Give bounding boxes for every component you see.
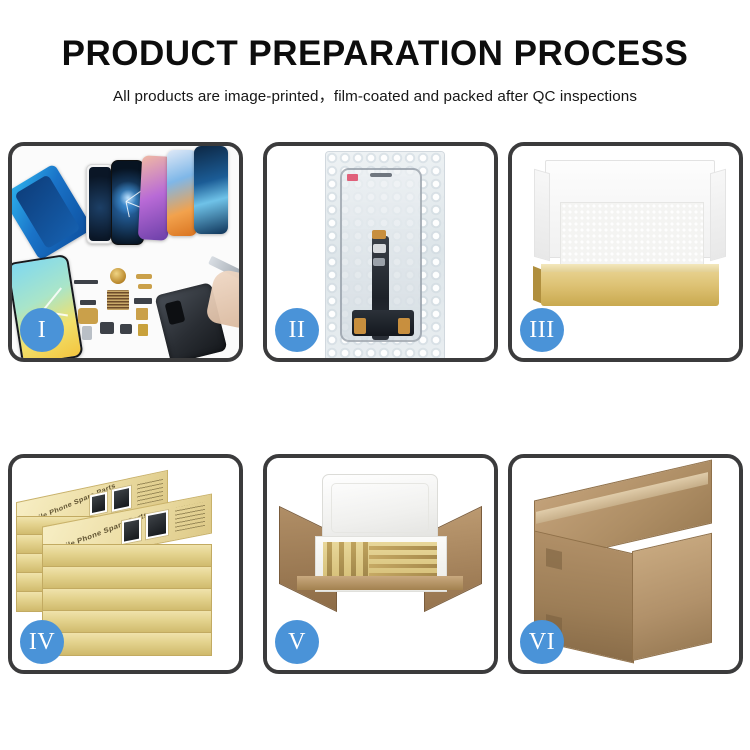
step-badge-4: IV (20, 620, 64, 664)
screen-notch (370, 173, 392, 177)
box-spec-lines-front (175, 502, 205, 532)
process-step-panel-2[interactable]: II (263, 142, 498, 362)
process-step-panel-3[interactable]: III (508, 142, 743, 362)
process-step-panel-6[interactable]: VI (508, 454, 743, 674)
part-gold-contact (138, 324, 148, 336)
phone-screen-orange (167, 150, 197, 236)
part-ic-chip-array (107, 290, 129, 310)
step-4-image: Mobile Phone Spare Parts Mobile Phone Sp… (12, 458, 239, 670)
part-camera-flex (78, 308, 98, 324)
process-step-panel-1[interactable]: I (8, 142, 243, 362)
grey-connector (373, 258, 385, 266)
part-bracket (134, 298, 152, 304)
part-sim-tray (82, 326, 92, 340)
box-layer-front-5 (42, 632, 212, 656)
process-step-grid: I II (8, 142, 745, 674)
box-layer-front-3 (42, 588, 212, 612)
carton-body (300, 584, 460, 658)
carton-seam-upper (546, 548, 562, 570)
box-spec-lines-back (137, 478, 163, 506)
page-header: PRODUCT PREPARATION PROCESS All products… (0, 0, 750, 106)
process-step-panel-4[interactable]: Mobile Phone Spare Parts Mobile Phone Sp… (8, 454, 243, 674)
step-2-image: II (267, 146, 494, 358)
part-speaker-coil (110, 268, 126, 284)
step-badge-1: I (20, 308, 64, 352)
part-speaker-module (120, 324, 132, 334)
step-badge-3: III (520, 308, 564, 352)
box-window-back-1 (89, 491, 108, 517)
white-connector (373, 244, 386, 253)
gold-connector-top (372, 230, 386, 239)
step-1-image: I (12, 146, 239, 358)
page-title: PRODUCT PREPARATION PROCESS (0, 0, 750, 73)
phone-screen-white-frame (86, 164, 114, 244)
part-earpiece-mesh (74, 280, 98, 284)
foam-cooler-lid (322, 474, 438, 542)
box-edge (369, 546, 437, 550)
phone-screen-dark-blue (194, 146, 228, 234)
box-layer-front-1 (42, 544, 212, 568)
box-layer-front-2 (42, 566, 212, 590)
process-step-panel-5[interactable]: V (263, 454, 498, 674)
box-layer-front-4 (42, 610, 212, 634)
page-subtitle: All products are image-printed，film-coat… (0, 73, 750, 106)
part-connector (80, 300, 96, 305)
bubble-wrap-bag (326, 152, 444, 358)
gold-contact-left (354, 318, 366, 334)
part-button (100, 322, 114, 334)
step-5-image: V (267, 458, 494, 670)
box-edge (369, 555, 437, 559)
part-flex-cable (138, 284, 152, 289)
gold-contact-right (398, 318, 410, 334)
step-badge-5: V (275, 620, 319, 664)
part-vibrator (136, 308, 148, 320)
box-window-front-2 (145, 509, 169, 541)
qc-sticker (347, 174, 358, 181)
step-badge-6: VI (520, 620, 564, 664)
kraft-tray-base (541, 264, 719, 306)
part-flex-cable (136, 274, 152, 279)
step-6-image: VI (512, 458, 739, 670)
crack-line (126, 201, 130, 217)
step-3-image: III (512, 146, 739, 358)
carton-side-face (632, 533, 712, 661)
step-badge-2: II (275, 308, 319, 352)
box-edge (369, 564, 437, 568)
box-window-front-1 (121, 516, 142, 545)
white-foam-sheet (560, 202, 704, 270)
lcd-screen-assembly (340, 168, 422, 342)
